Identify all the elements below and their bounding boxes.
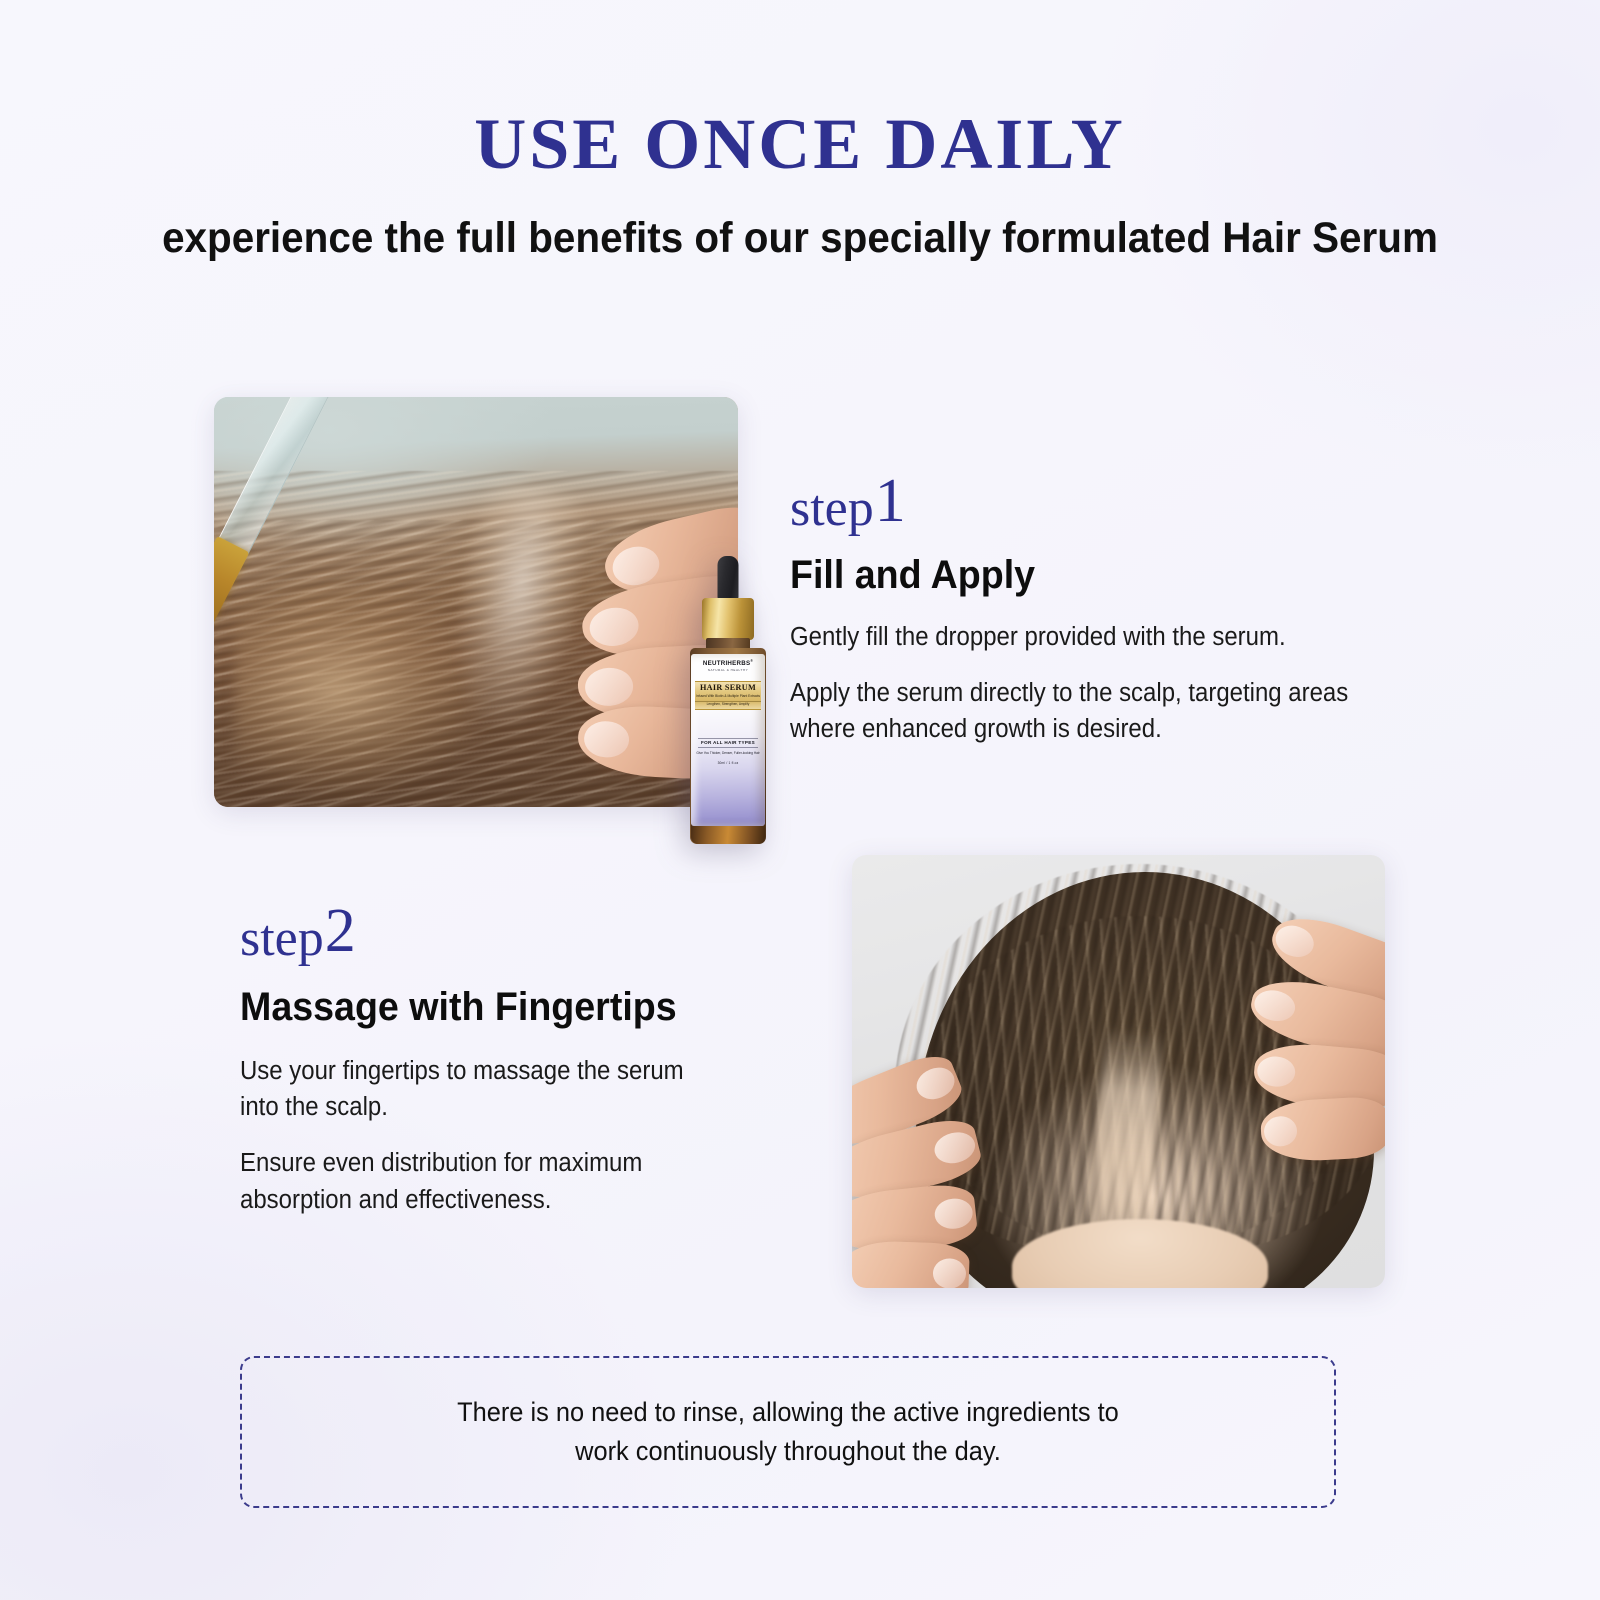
fingernail [608,542,662,590]
infographic-page: USE ONCE DAILY experience the full benef… [0,0,1600,1600]
bottle-benefit: Give You Thicker, Denser, Fuller-looking… [696,751,759,755]
fingernail [1256,1055,1296,1088]
step1-heading: Fill and Apply [790,553,1392,597]
bottle-gold-cap [702,598,754,640]
page-subtitle: experience the full benefits of our spec… [48,214,1552,263]
bottle-product-name: HAIR SERUM [695,684,761,692]
footer-note-box: There is no need to rinse, allowing the … [240,1356,1336,1508]
step2-label-word: step [240,910,324,967]
step2-heading: Massage with Fingertips [240,985,729,1029]
page-title: USE ONCE DAILY [0,108,1600,180]
dropper-serum-liquid [214,537,249,635]
step1-paragraph-2: Apply the serum directly to the scalp, t… [790,675,1392,747]
step1-paragraph-1: Gently fill the dropper provided with th… [790,619,1392,655]
fingernail [584,666,634,706]
step1-photo [214,397,738,807]
bottle-description: Infused With Biotin & Multiple Plant Ext… [695,694,761,698]
step2-label-number: 2 [325,897,356,965]
right-hand [1225,924,1385,1166]
step1-label: step1 [790,470,1430,535]
fingernail [934,1197,975,1231]
step2-body: Use your fingertips to massage the serum… [240,1053,760,1218]
bottle-claims: Lengthen, Strengthen, Amplify [695,701,761,707]
step1-label-number: 1 [875,467,906,535]
step1-body: Gently fill the dropper provided with th… [790,619,1430,748]
dropper-bulb [718,556,739,602]
step1-label-word: step [790,480,874,537]
step2-paragraph-2: Ensure even distribution for maximum abs… [240,1145,729,1217]
fingernail [931,1128,978,1167]
finger [1260,1096,1385,1163]
product-bottle: NEUTRIHERBS® NATURAL & HEALTHY HAIR SERU… [684,556,772,844]
fingernail [1271,921,1318,963]
bottle-label: NEUTRIHERBS® NATURAL & HEALTHY HAIR SERU… [691,654,765,826]
fingernail [1252,987,1298,1025]
step2-paragraph-1: Use your fingertips to massage the serum… [240,1053,729,1125]
fingernail [933,1258,967,1288]
fingernail [583,720,629,759]
step1-text-block: step1 Fill and Apply Gently fill the dro… [790,470,1430,748]
left-hand [852,1063,1001,1288]
bottle-base [691,824,765,844]
footer-note-line-2: work continuously throughout the day. [575,1436,1001,1466]
bottle-gold-panel: HAIR SERUM Infused With Biotin & Multipl… [695,681,761,710]
step2-text-block: step2 Massage with Fingertips Use your f… [240,900,760,1218]
footer-note-text: There is no need to rinse, allowing the … [457,1393,1119,1471]
step2-label: step2 [240,900,760,965]
finger [852,1240,970,1288]
step2-photo [852,855,1385,1288]
bottle-volume: 30ml / 1 fl.oz [718,761,739,765]
bottle-tagline: NATURAL & HEALTHY [708,669,748,672]
fingernail [912,1062,959,1105]
bottle-brand-name: NEUTRIHERBS® [703,660,753,667]
fingernail [587,604,641,648]
bottle-hair-types: FOR ALL HAIR TYPES [698,738,758,748]
footer-note-line-1: There is no need to rinse, allowing the … [457,1397,1119,1427]
fingernail [1263,1115,1298,1147]
